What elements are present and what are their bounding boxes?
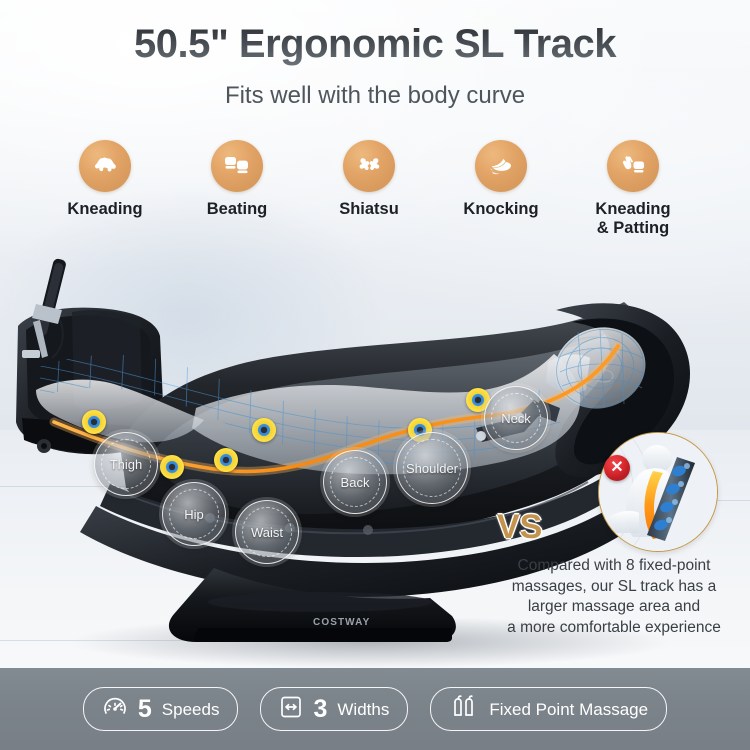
feature-number: 3 [313,697,327,722]
page-subtitle: Fits well with the body curve [0,82,750,110]
body-point-neck[interactable]: Neck [484,386,548,450]
body-point-label: Shoulder [406,461,458,476]
beating-fists-icon [211,140,263,192]
page-title: 50.5" Ergonomic SL Track [0,22,750,67]
width-arrows-icon [279,694,303,725]
body-point-label: Back [341,475,370,490]
speedometer-icon [102,694,128,725]
feature-pill-widths[interactable]: 3 Widths [260,687,408,731]
body-point-thigh[interactable]: Thigh [94,432,158,496]
mode-shiatsu[interactable]: Shiatsu [294,140,444,219]
body-point-label: Neck [501,411,531,426]
shiatsu-hands-icon [343,140,395,192]
mode-label: Kneading & Patting [558,200,708,238]
roller-node-hip [160,455,184,479]
massage-modes-row: Kneading Beating [0,140,750,250]
feature-word: Fixed Point Massage [489,701,648,718]
body-point-hip[interactable]: Hip [162,482,226,546]
comparison-line-3: larger massage area and [528,598,700,615]
feature-pills: 5 Speeds 3 Widths [0,668,750,750]
brand-logo: COSTWAY [313,617,370,628]
vs-label: VS [497,508,542,547]
roller-node-waist [214,448,238,472]
kneading-hands-icon [79,140,131,192]
feature-footer-bar: 5 Speeds 3 Widths [0,668,750,750]
body-point-label: Waist [251,525,283,540]
body-point-waist[interactable]: Waist [235,500,299,564]
comparison-line-1: Compared with 8 fixed-point [518,557,711,574]
legs-massage-icon [449,694,479,725]
feature-number: 5 [138,697,152,722]
mode-label: Shiatsu [294,200,444,219]
mode-kneading[interactable]: Kneading [30,140,180,219]
feature-word: Speeds [162,701,220,718]
roller-node-back [252,418,276,442]
close-icon: ✕ [604,455,630,481]
mode-kneading-patting[interactable]: Kneading & Patting [558,140,708,238]
body-point-label: Thigh [110,457,143,472]
body-point-shoulder[interactable]: Shoulder [396,432,468,504]
mode-label: Kneading [30,200,180,219]
fixed-point-inset-image [598,432,718,552]
kneading-patting-icon [607,140,659,192]
comparison-line-4: a more comfortable experience [507,619,721,636]
mode-label: Knocking [426,200,576,219]
comparison-line-2: massages, our SL track has a [512,578,716,595]
body-point-back[interactable]: Back [323,450,387,514]
knocking-hand-icon [475,140,527,192]
mode-label: Beating [162,200,312,219]
mode-beating[interactable]: Beating [162,140,312,219]
roller-node-thigh [82,410,106,434]
comparison-description: Compared with 8 fixed-point massages, ou… [478,556,750,638]
feature-pill-fixed-point[interactable]: Fixed Point Massage [430,687,667,731]
feature-word: Widths [337,701,389,718]
product-feature-image: 50.5" Ergonomic SL Track Fits well with … [0,0,750,750]
feature-pill-speeds[interactable]: 5 Speeds [83,687,239,731]
body-point-label: Hip [184,507,204,522]
mode-knocking[interactable]: Knocking [426,140,576,219]
